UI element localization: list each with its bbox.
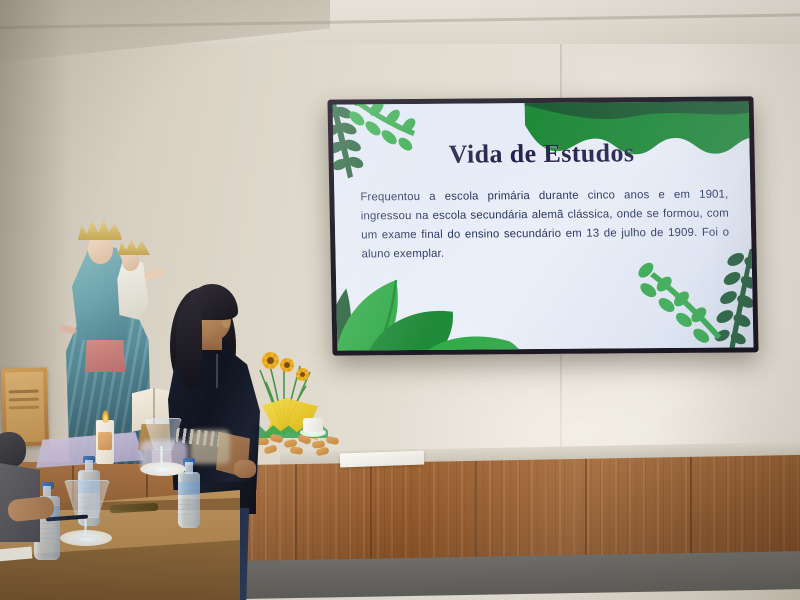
tv-bezel: Vida de Estudos Frequentou a escola prim… bbox=[327, 96, 758, 355]
presenter-hair-side bbox=[176, 302, 202, 388]
candle-flame-icon bbox=[102, 410, 109, 423]
tv-screen: Vida de Estudos Frequentou a escola prim… bbox=[333, 101, 754, 350]
bottle-ribs bbox=[178, 494, 200, 516]
papers-on-counter bbox=[340, 451, 424, 468]
sunflower-core bbox=[300, 372, 305, 377]
glass-bowl bbox=[64, 480, 110, 518]
white-cup bbox=[303, 418, 323, 432]
presenter-hand bbox=[234, 460, 256, 478]
television[interactable]: Vida de Estudos Frequentou a escola prim… bbox=[327, 96, 758, 355]
sunflower-core bbox=[284, 362, 290, 368]
glass-foot bbox=[150, 466, 174, 473]
photo-scene: Vida de Estudos Frequentou a escola prim… bbox=[0, 0, 800, 600]
glass-foot bbox=[72, 536, 100, 543]
child-crown-icon bbox=[118, 238, 150, 255]
sunflower-icon bbox=[296, 368, 309, 381]
statue-arm bbox=[59, 324, 76, 335]
child-arm bbox=[143, 267, 164, 280]
fern-frond-bottom-right-icon bbox=[623, 247, 753, 350]
slide-title: Vida de Estudos bbox=[333, 137, 750, 170]
statue-crown-icon bbox=[78, 218, 122, 240]
glass-bowl bbox=[144, 418, 182, 450]
slide-body-text: Frequentou a escola primária durante cin… bbox=[360, 186, 730, 265]
sunflower-icon bbox=[280, 358, 294, 372]
water-bottle[interactable] bbox=[178, 458, 200, 528]
presenter-placket bbox=[216, 354, 218, 388]
candle-decal bbox=[98, 432, 112, 450]
big-leaves-bottom-left-icon bbox=[333, 269, 534, 351]
